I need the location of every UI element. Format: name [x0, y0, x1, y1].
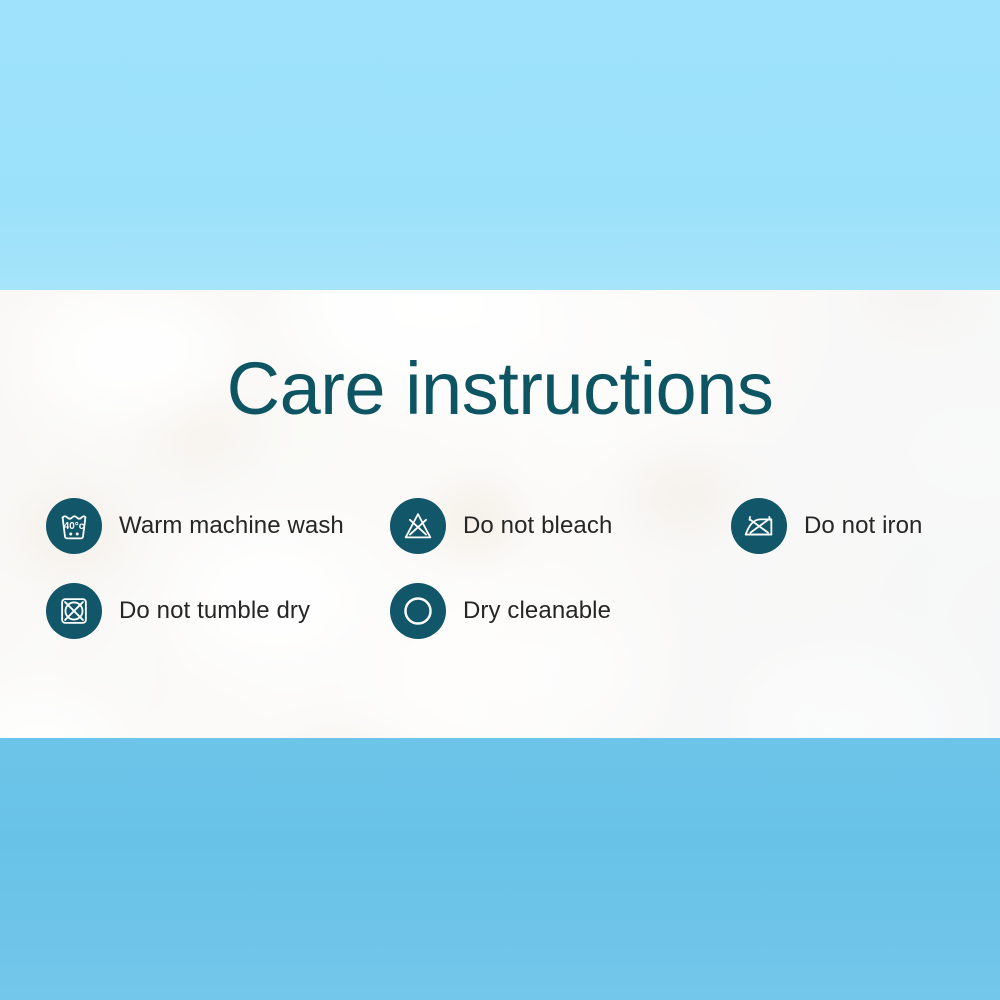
care-item-do-not-iron[interactable]: Do not iron — [731, 498, 923, 554]
care-item-do-not-tumble-dry[interactable]: Do not tumble dry — [46, 583, 310, 639]
care-row: Do not tumble dry Dry cleanable — [46, 583, 966, 668]
machine-wash-40c-icon: 40°c — [46, 498, 102, 554]
care-item-dry-cleanable[interactable]: Dry cleanable — [390, 583, 611, 639]
banner-content: Care instructions 40°c Warm machine w — [0, 0, 1000, 1000]
do-not-bleach-icon — [390, 498, 446, 554]
dry-cleanable-icon — [390, 583, 446, 639]
care-item-do-not-bleach[interactable]: Do not bleach — [390, 498, 612, 554]
do-not-tumble-dry-icon — [46, 583, 102, 639]
care-item-warm-machine-wash[interactable]: 40°c Warm machine wash — [46, 498, 344, 554]
care-item-label: Dry cleanable — [463, 597, 611, 625]
care-item-label: Do not bleach — [463, 512, 612, 540]
care-instructions-banner: Care instructions 40°c Warm machine w — [0, 0, 1000, 1000]
care-row: 40°c Warm machine wash — [46, 498, 966, 583]
care-item-label: Do not iron — [804, 512, 923, 540]
page-title: Care instructions — [0, 352, 1000, 426]
care-item-label: Warm machine wash — [119, 512, 344, 540]
do-not-iron-icon — [731, 498, 787, 554]
care-symbol-grid: 40°c Warm machine wash — [46, 498, 966, 668]
care-item-label: Do not tumble dry — [119, 597, 310, 625]
svg-text:40°c: 40°c — [64, 521, 85, 532]
